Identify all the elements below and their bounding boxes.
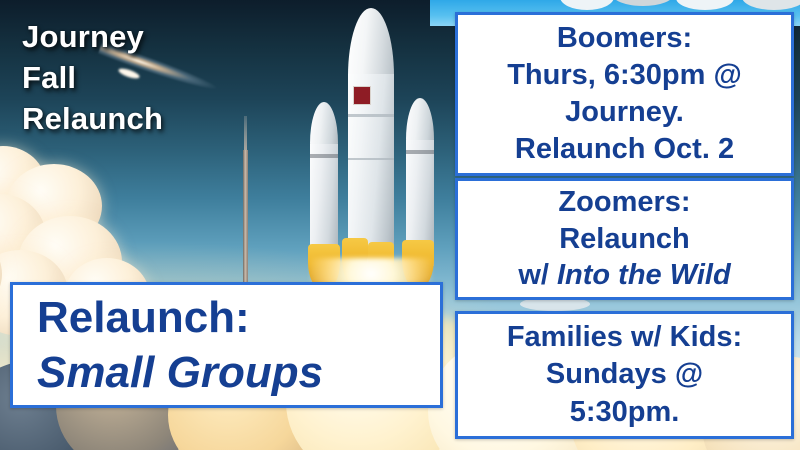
rocket-band [348, 158, 394, 160]
relaunch-line-2: Small Groups [37, 345, 440, 400]
zoomers-line-1: Zoomers: [458, 184, 791, 221]
title-line-3: Relaunch [22, 98, 262, 139]
zoomers-line-3: w/ Into the Wild [458, 257, 791, 294]
callout-box-zoomers: Zoomers: Relaunch w/ Into the Wild [455, 178, 794, 300]
booster-band-right [406, 150, 434, 154]
booster-band-left [310, 154, 338, 158]
zoomers-with-prefix: w/ [518, 259, 557, 291]
families-line-2: Sundays @ [458, 356, 791, 393]
booster-nose-left [310, 102, 338, 146]
page-title: Journey Fall Relaunch [22, 16, 262, 140]
zoomers-series-title: Into the Wild [557, 259, 731, 291]
rocket-insignia [353, 86, 371, 105]
relaunch-line-1: Relaunch: [37, 290, 440, 345]
boomers-line-3: Journey. [458, 94, 791, 131]
title-line-1: Journey [22, 16, 262, 57]
families-line-1: Families w/ Kids: [458, 319, 791, 356]
boomers-line-4: Relaunch Oct. 2 [458, 131, 791, 168]
boomers-line-1: Boomers: [458, 20, 791, 57]
zoomers-line-2: Relaunch [458, 221, 791, 258]
callout-box-boomers: Boomers: Thurs, 6:30pm @ Journey. Relaun… [455, 12, 794, 176]
rocket-nose-cone [348, 8, 394, 82]
boomers-line-2: Thurs, 6:30pm @ [458, 57, 791, 94]
callout-box-relaunch-small-groups: Relaunch: Small Groups [10, 282, 443, 408]
poster-canvas: Journey Fall Relaunch Boomers: Thurs, 6:… [0, 0, 800, 450]
title-line-2: Fall [22, 57, 262, 98]
rocket-band [348, 114, 394, 117]
families-line-3: 5:30pm. [458, 394, 791, 431]
rocket-icon [296, 8, 448, 308]
callout-box-families: Families w/ Kids: Sundays @ 5:30pm. [455, 311, 794, 439]
booster-nose-right [406, 98, 434, 142]
